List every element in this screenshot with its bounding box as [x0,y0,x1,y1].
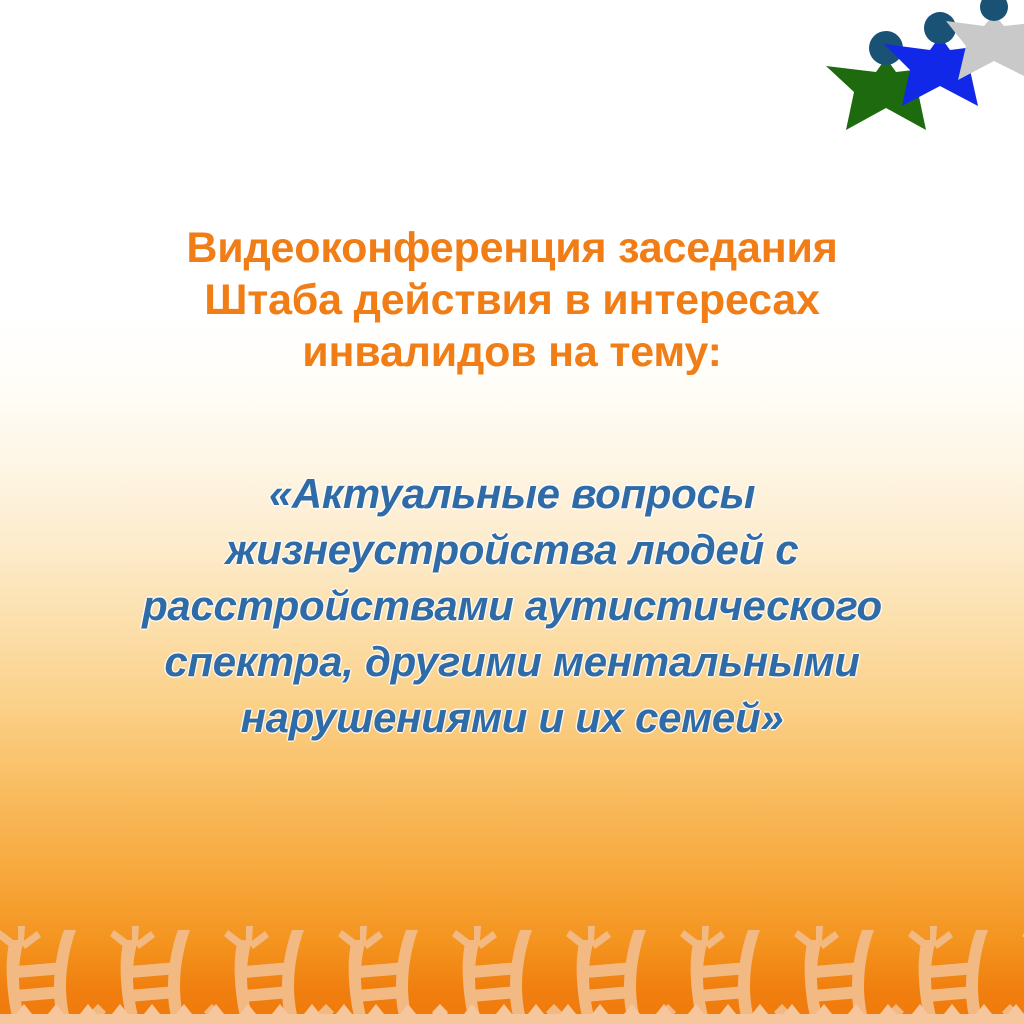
page-title-line-1: Видеоконференция заседания [70,222,954,274]
bashkir-folk-border-decoration [0,916,1024,1024]
page-subtitle-line-2: жизнеустройства людей с [60,522,964,578]
page-subtitle-line-5: нарушениями и их семей» [60,690,964,746]
page-title: Видеоконференция заседания Штаба действи… [0,222,1024,378]
page-subtitle: «Актуальные вопросы жизнеустройства люде… [0,466,1024,746]
page-subtitle-line-3: расстройствами аутистического [60,578,964,634]
page-subtitle-line-1: «Актуальные вопросы [60,466,964,522]
page-title-line-2: Штаба действия в интересах [70,274,954,326]
three-star-people-logo [798,0,1024,132]
poster-canvas: Видеоконференция заседания Штаба действи… [0,0,1024,1024]
page-title-line-3: инвалидов на тему: [70,326,954,378]
base-strip [0,1016,1024,1024]
page-subtitle-line-4: спектра, другими ментальными [60,634,964,690]
